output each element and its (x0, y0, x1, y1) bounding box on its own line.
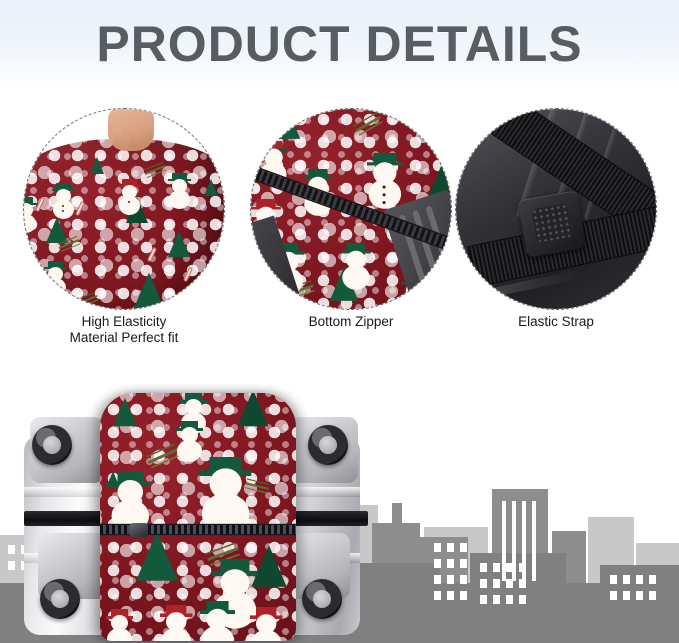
detail-caption-1-line1: High Elasticity (18, 314, 230, 330)
detail-caption-3: Elastic Strap (450, 314, 662, 330)
detail-caption-2-line1: Bottom Zipper (245, 314, 457, 330)
detail-photo-circle-3 (455, 108, 657, 310)
page-title: PRODUCT DETAILS (0, 16, 679, 72)
product-detail-row: High Elasticity Material Perfect fit (0, 108, 679, 358)
bottom-zipper-closeup-photo (251, 109, 451, 309)
detail-caption-1: High Elasticity Material Perfect fit (18, 314, 230, 346)
detail-item-high-elasticity: High Elasticity Material Perfect fit (18, 108, 230, 358)
red-snowman-luggage-cover (100, 393, 296, 641)
elastic-strap-right (284, 511, 368, 526)
detail-item-elastic-strap: Elastic Strap (450, 108, 662, 358)
hero-scene (0, 370, 679, 643)
detail-caption-3-line1: Elastic Strap (450, 314, 662, 330)
detail-caption-1-line2: Material Perfect fit (18, 330, 230, 346)
detail-caption-2: Bottom Zipper (245, 314, 457, 330)
detail-item-bottom-zipper: Bottom Zipper (245, 108, 457, 358)
spinner-wheel-bottom-left (40, 579, 80, 619)
hand-stretching-fabric-photo (24, 109, 224, 309)
cover-zipper-pull (130, 523, 148, 537)
red-snowman-fabric (100, 393, 296, 641)
detail-photo-circle-1 (23, 108, 225, 310)
spinner-wheel-bottom-right (302, 579, 342, 619)
elastic-strap-left (24, 511, 110, 526)
detail-photo-circle-2 (250, 108, 452, 310)
elastic-strap-closeup-photo (456, 109, 656, 309)
strap-buckle (517, 190, 586, 258)
suitcase-bottom-with-cover-photo (18, 383, 368, 643)
spinner-wheel-top-right (308, 425, 348, 465)
spinner-wheel-top-left (32, 425, 72, 465)
hand-holding-fabric (108, 109, 154, 151)
red-snowman-fabric (24, 139, 224, 309)
